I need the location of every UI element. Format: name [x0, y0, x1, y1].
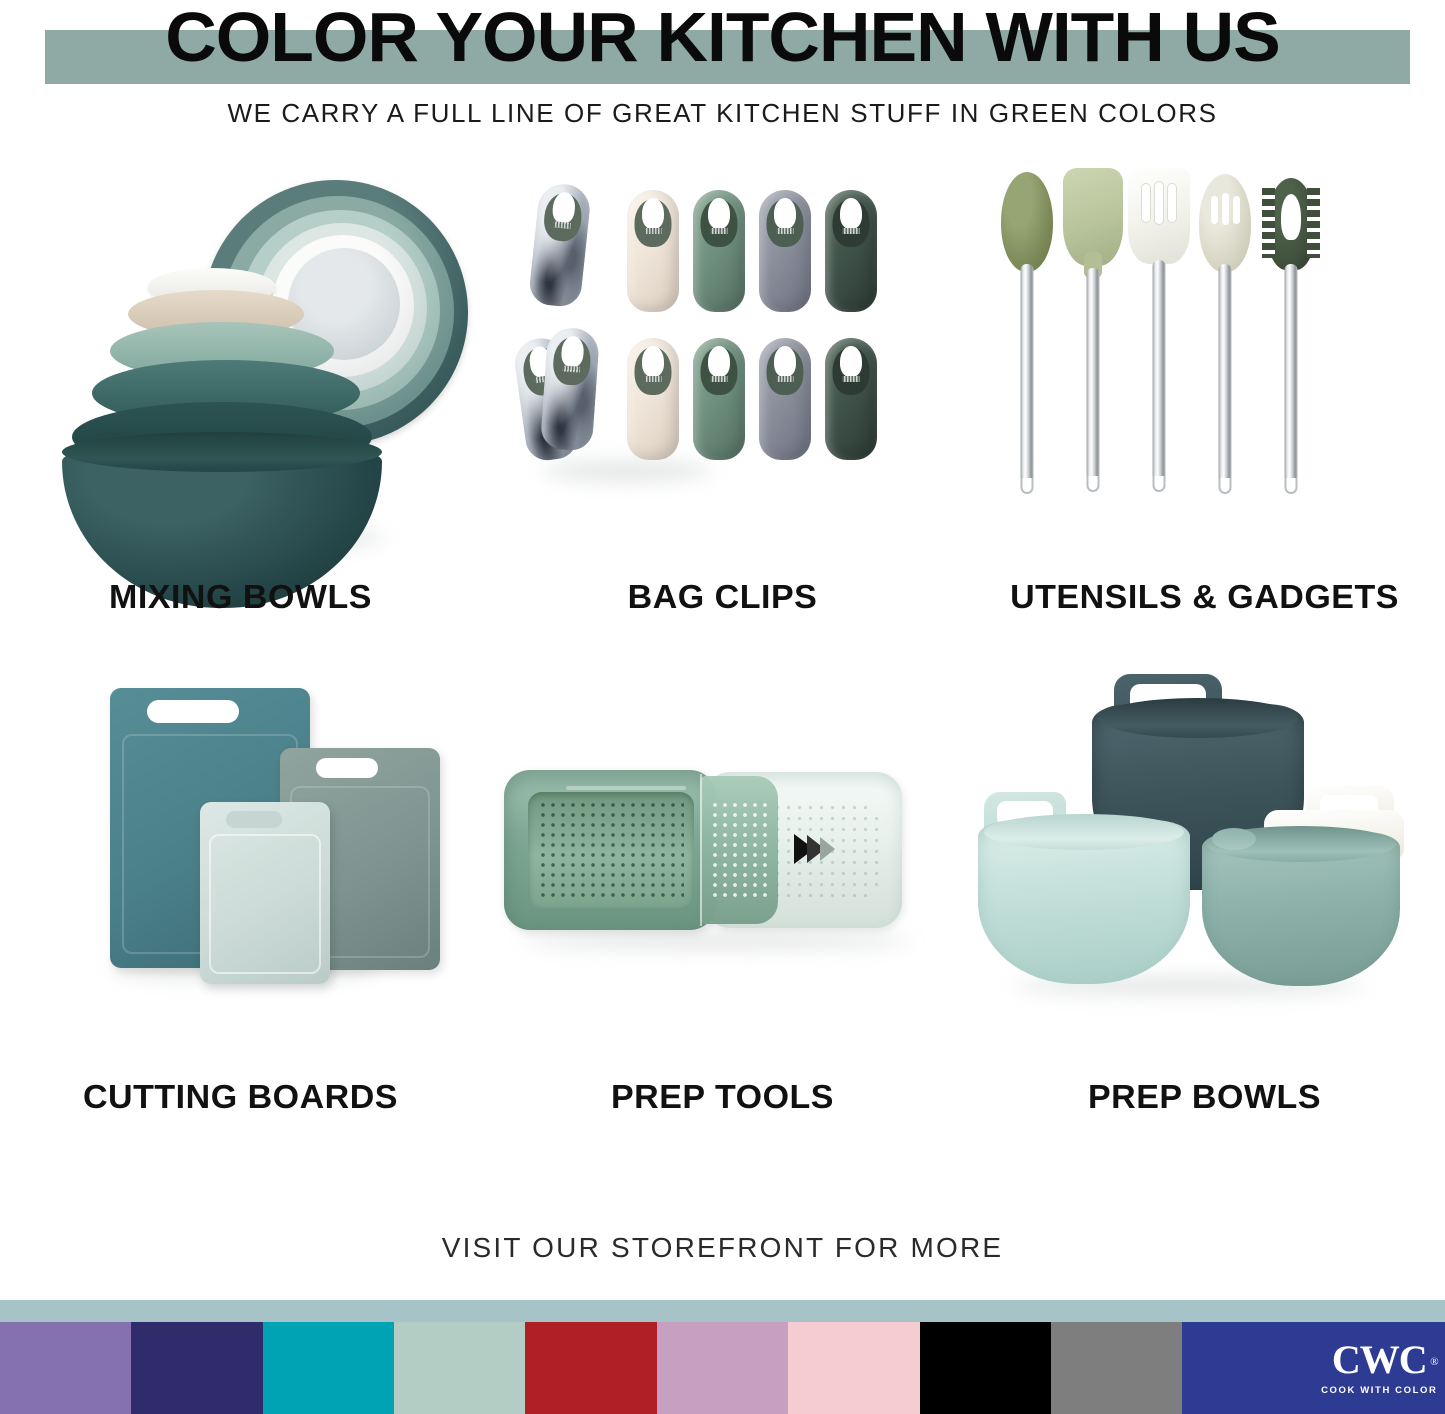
sage-rim-spout [1212, 828, 1256, 850]
section-label: CUTTING BOARDS [0, 1078, 488, 1116]
bag-clip-cream-bottom [627, 338, 679, 460]
swatch-blue [1182, 1322, 1313, 1414]
footer-accent-band [0, 1300, 1445, 1322]
utensil-handle [1219, 264, 1232, 486]
utensil-tip [1219, 478, 1232, 494]
drop-shadow [542, 460, 712, 482]
clip-hole [642, 346, 664, 377]
prep-bowls-illustration [964, 660, 1445, 1080]
board-handle-cutout [226, 811, 282, 828]
clip-teeth [777, 376, 794, 382]
clip-hole [774, 346, 796, 377]
colander-rim-bar [566, 786, 686, 790]
clip-teeth [843, 228, 860, 234]
storefront-callout: VISIT OUR STOREFRONT FOR MORE [0, 1232, 1445, 1264]
utensil-tip [1021, 478, 1034, 494]
utensil-spoon [996, 172, 1058, 502]
drop-shadow [522, 932, 912, 950]
board-handle-cutout [316, 758, 378, 778]
clip-teeth [777, 228, 794, 234]
pasta-teeth-left [1262, 188, 1275, 258]
cutting-boards-illustration [0, 660, 481, 1080]
product-cell-cutting-boards[interactable]: CUTTING BOARDS [0, 660, 481, 1150]
colander-holes-basin [538, 800, 684, 900]
logo-tagline: COOK WITH COLOR [1321, 1385, 1437, 1396]
clip-hole [708, 198, 730, 229]
mixing-bowls-illustration [0, 160, 481, 580]
utensil-handle [1021, 264, 1034, 486]
clip-hole [840, 346, 862, 377]
clip-hole [642, 198, 664, 229]
expandable-colander [504, 770, 904, 930]
color-swatch-bar: CWC® COOK WITH COLOR [0, 1322, 1445, 1414]
cutting-board-small [200, 802, 330, 984]
slot [1211, 196, 1218, 224]
logo-wordmark: CWC® [1332, 1340, 1427, 1380]
product-cell-prep-bowls[interactable]: PREP BOWLS [964, 660, 1445, 1150]
prep-bowl-mint [978, 792, 1190, 988]
section-label: MIXING BOWLS [0, 578, 488, 616]
swatch-orchid [657, 1322, 788, 1414]
clip-hole [840, 198, 862, 229]
bag-clip-marble-3 [540, 326, 600, 451]
swatch-pink [788, 1322, 919, 1414]
expand-arrow-icon [794, 832, 840, 866]
swatch-red [525, 1322, 656, 1414]
clip-teeth [843, 376, 860, 382]
utensil-slotted-spoon [1194, 174, 1256, 502]
utensil-slotted-turner [1128, 168, 1190, 502]
clip-hole [708, 346, 730, 377]
bag-clip-gray-bottom [759, 338, 811, 460]
brand-logo: CWC® COOK WITH COLOR [1314, 1322, 1445, 1414]
turner-slot [1142, 184, 1150, 222]
swatch-sage [394, 1322, 525, 1414]
clip-hole [774, 198, 796, 229]
colander-holes-middle [710, 800, 768, 900]
bag-clip-gray-top [759, 190, 811, 312]
header: COLOR YOUR KITCHEN WITH US WE CARRY A FU… [0, 0, 1445, 150]
section-label: PREP TOOLS [475, 1078, 970, 1116]
product-cell-bag-clips[interactable]: BAG CLIPS [482, 160, 963, 650]
product-cell-mixing-bowls[interactable]: MIXING BOWLS [0, 160, 481, 650]
page-subtitle: WE CARRY A FULL LINE OF GREAT KITCHEN ST… [0, 98, 1445, 129]
slot [1222, 193, 1229, 225]
utensil-tip [1153, 476, 1166, 492]
bag-clip-marble-1 [528, 182, 592, 309]
bag-clip-green-top [693, 190, 745, 312]
spoon-head [1001, 172, 1053, 272]
colander-seam [700, 774, 702, 926]
pasta-teeth-right [1307, 188, 1320, 258]
clip-teeth [645, 228, 662, 234]
bag-clips-illustration [482, 160, 963, 580]
bag-clip-cream-top [627, 190, 679, 312]
pasta-center-hole [1281, 194, 1301, 240]
prep-bowl-sage [1202, 796, 1400, 988]
page-title: COLOR YOUR KITCHEN WITH US [0, 0, 1445, 76]
swatch-navy [131, 1322, 262, 1414]
utensils-illustration [964, 160, 1445, 580]
swatch-purple [0, 1322, 131, 1414]
clip-teeth [711, 376, 728, 382]
mint-rim [984, 814, 1184, 850]
utensil-tip [1087, 476, 1100, 492]
turner-slot [1155, 182, 1163, 224]
clip-teeth [711, 228, 728, 234]
product-grid: MIXING BOWLS [0, 160, 1445, 1210]
section-label: PREP BOWLS [957, 1078, 1445, 1116]
section-label: UTENSILS & GADGETS [957, 578, 1445, 616]
swatch-teal [263, 1322, 394, 1414]
utensil-handle [1153, 260, 1166, 484]
product-cell-prep-tools[interactable]: PREP TOOLS [482, 660, 963, 1150]
swatch-gray [1051, 1322, 1182, 1414]
swatch-black [920, 1322, 1051, 1414]
logo-mark-text: CWC [1332, 1337, 1427, 1382]
utensil-handle [1285, 264, 1298, 486]
bag-clip-darkgreen-top [825, 190, 877, 312]
board-juice-groove [209, 834, 321, 974]
bag-clip-green-bottom [693, 338, 745, 460]
slot [1233, 196, 1240, 224]
slate-rim [1098, 698, 1298, 738]
product-cell-utensils[interactable]: UTENSILS & GADGETS [964, 160, 1445, 650]
bowl-largest-rim [62, 432, 382, 472]
bag-clip-darkgreen-bottom [825, 338, 877, 460]
utensil-spatula [1062, 168, 1124, 502]
clip-teeth [645, 376, 662, 382]
brand-logo-swatch[interactable]: CWC® COOK WITH COLOR [1314, 1322, 1445, 1414]
utensil-tip [1285, 478, 1298, 494]
board-handle-cutout [147, 700, 239, 723]
utensil-handle [1087, 268, 1100, 484]
section-label: BAG CLIPS [475, 578, 970, 616]
utensil-pasta-server [1260, 178, 1322, 502]
registered-trademark-icon: ® [1430, 1342, 1437, 1382]
prep-tools-illustration [482, 660, 963, 1080]
clip-teeth [563, 365, 580, 372]
turner-slot [1168, 184, 1176, 222]
